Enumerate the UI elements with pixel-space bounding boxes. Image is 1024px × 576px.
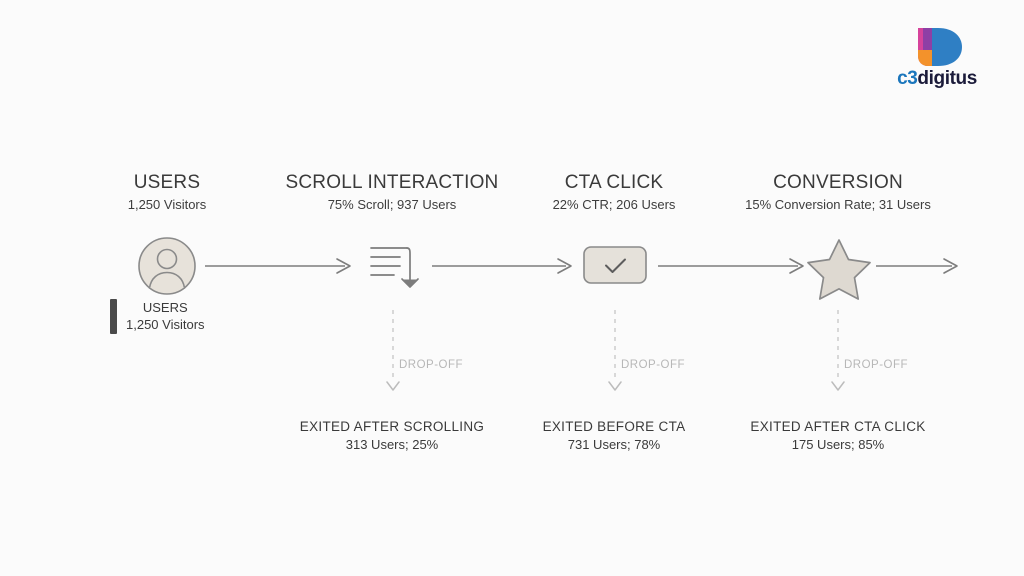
exit-subtitle-after-cta-click: 175 Users; 85%: [718, 437, 958, 452]
exit-title-after-cta-click: EXITED AFTER CTA CLICK: [718, 419, 958, 434]
c3digitus-logo-mark-icon: [904, 26, 966, 68]
funnel-diagram-canvas: c3digitus USERS 1,250 Visitors SCROLL IN…: [0, 0, 1024, 576]
arrow-down-dashed-icon: [384, 310, 402, 395]
stage-title-conversion: CONVERSION: [668, 172, 1008, 194]
brand-logo-text: c3digitus: [876, 68, 998, 90]
star-icon[interactable]: [804, 233, 874, 303]
arrow-right-icon: [432, 256, 574, 276]
brand-name-digitus: digitus: [917, 68, 976, 89]
arrow-right-icon: [876, 256, 960, 276]
callout-text-group: USERS 1,250 Visitors: [126, 299, 205, 334]
exit-subtitle-before-cta: 731 Users; 78%: [494, 437, 734, 452]
brand-logo: c3digitus: [876, 26, 998, 88]
exit-title-after-scrolling: EXITED AFTER SCROLLING: [272, 419, 512, 434]
dropoff-label: DROP-OFF: [621, 359, 685, 371]
arrow-down-dashed-icon: [829, 310, 847, 395]
exit-subtitle-after-scrolling: 313 Users; 25%: [272, 437, 512, 452]
dropoff-label: DROP-OFF: [399, 359, 463, 371]
user-avatar-icon[interactable]: [132, 231, 202, 301]
users-callout: USERS 1,250 Visitors: [110, 299, 205, 334]
scroll-down-icon[interactable]: [358, 231, 428, 301]
exit-title-before-cta: EXITED BEFORE CTA: [494, 419, 734, 434]
callout-subtitle: 1,250 Visitors: [126, 316, 205, 334]
checkmark-button-icon[interactable]: [580, 245, 650, 285]
stage-subtitle-conversion: 15% Conversion Rate; 31 Users: [668, 197, 1008, 212]
stage-title-users: USERS: [67, 172, 267, 194]
callout-title: USERS: [126, 299, 205, 316]
callout-accent-bar: [110, 299, 117, 334]
arrow-right-icon: [658, 256, 806, 276]
arrow-down-dashed-icon: [606, 310, 624, 395]
stage-subtitle-users: 1,250 Visitors: [67, 197, 267, 212]
dropoff-label: DROP-OFF: [844, 359, 908, 371]
brand-name-c3: c3: [897, 68, 917, 89]
arrow-right-icon: [205, 256, 353, 276]
